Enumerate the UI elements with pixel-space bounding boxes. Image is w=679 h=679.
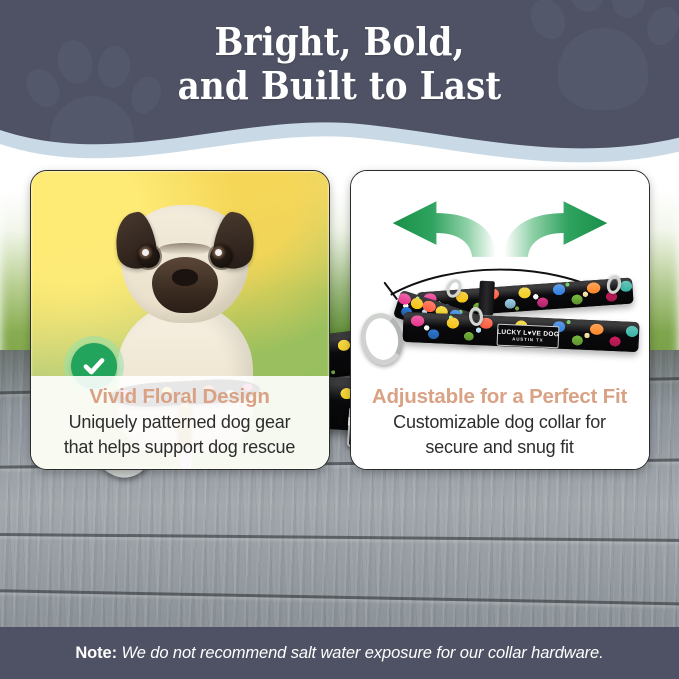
product-marketing-image: LUCKY L♥VE DOG AUSTIN TX Bright, Bold, a… xyxy=(0,0,679,679)
wave-divider-white xyxy=(0,104,679,180)
feature-card-adjustable-perfect-fit[interactable]: LUCKY L♥VE DOG AUSTIN TX Adjustable for … xyxy=(350,170,650,470)
pug-eye-left xyxy=(137,245,160,268)
pug-forehead-wrinkle xyxy=(159,243,211,255)
card-title: Vivid Floral Design xyxy=(39,384,321,410)
pug-muzzle xyxy=(152,257,218,313)
pug-nose xyxy=(172,269,198,286)
brand-label-plate: LUCKY L♥VE DOG AUSTIN TX xyxy=(496,324,559,349)
card-subtitle-line-2: secure and snug fit xyxy=(359,436,641,458)
card-caption: Adjustable for a Perfect Fit Customizabl… xyxy=(351,376,649,469)
note-message: We do not recommend salt water exposure … xyxy=(122,644,604,662)
note-label: Note: xyxy=(75,644,117,662)
feature-cards: Vivid Floral Design Uniquely patterned d… xyxy=(0,170,679,470)
card-subtitle-line-1: Uniquely patterned dog gear xyxy=(39,411,321,433)
pug-head xyxy=(121,205,249,323)
card-subtitle-line-1: Customizable dog collar for xyxy=(359,411,641,433)
card-caption: Vivid Floral Design Uniquely patterned d… xyxy=(31,376,329,469)
title-line-1: Bright, Bold, xyxy=(214,19,464,64)
feature-card-vivid-floral-design[interactable]: Vivid Floral Design Uniquely patterned d… xyxy=(30,170,330,470)
pug-eye-right xyxy=(210,245,233,268)
brand-location: AUSTIN TX xyxy=(512,336,543,342)
footer-note-bar: Note: We do not recommend salt water exp… xyxy=(0,627,679,679)
card-subtitle-line-2: that helps support dog rescue xyxy=(39,436,321,458)
footer-note: Note: We do not recommend salt water exp… xyxy=(75,644,603,663)
card-title: Adjustable for a Perfect Fit xyxy=(359,384,641,410)
